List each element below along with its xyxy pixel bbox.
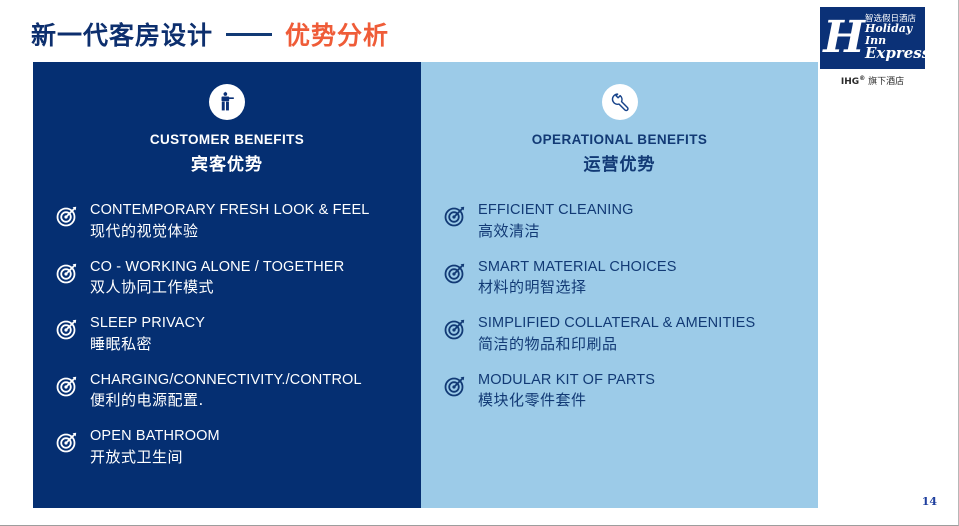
panel-heading-cn: 宾客优势 [191, 150, 263, 175]
list-item-cn: 简洁的物品和印刷品 [478, 337, 755, 352]
list-item-en: OPEN BATHROOM [90, 429, 220, 444]
list-item: OPEN BATHROOM 开放式卫生间 [55, 429, 421, 465]
target-bullet-icon [55, 261, 79, 285]
list-item: SIMPLIFIED COLLATERAL & AMENITIES 简洁的物品和… [443, 316, 818, 352]
list-item: CHARGING/CONNECTIVITY./CONTROL 便利的电源配置. [55, 373, 421, 409]
list-item: SLEEP PRIVACY 睡眠私密 [55, 316, 421, 352]
list-item-en: CONTEMPORARY FRESH LOOK & FEEL [90, 203, 370, 218]
list-item-en: CO - WORKING ALONE / TOGETHER [90, 260, 344, 275]
list-item: EFFICIENT CLEANING 高效清洁 [443, 203, 818, 239]
logo-brand-line1: Holiday Inn [865, 23, 930, 45]
list-item-text: EFFICIENT CLEANING 高效清洁 [478, 203, 634, 239]
target-bullet-icon [443, 317, 467, 341]
list-item-cn: 开放式卫生间 [90, 450, 220, 465]
list-item-en: SMART MATERIAL CHOICES [478, 260, 677, 275]
customer-benefits-header: CUSTOMER BENEFITS 宾客优势 [33, 84, 421, 175]
target-bullet-icon [55, 430, 79, 454]
list-item-cn: 模块化零件套件 [478, 393, 655, 408]
operational-benefits-header: OPERATIONAL BENEFITS 运营优势 [421, 84, 818, 175]
list-item-text: MODULAR KIT OF PARTS 模块化零件套件 [478, 373, 655, 409]
list-item: CONTEMPORARY FRESH LOOK & FEEL 现代的视觉体验 [55, 203, 421, 239]
list-item-text: SMART MATERIAL CHOICES 材料的明智选择 [478, 260, 677, 296]
panel-heading-en: OPERATIONAL BENEFITS [532, 132, 708, 147]
list-item-text: CHARGING/CONNECTIVITY./CONTROL 便利的电源配置. [90, 373, 362, 409]
target-bullet-icon [55, 374, 79, 398]
list-item: CO - WORKING ALONE / TOGETHER 双人协同工作模式 [55, 260, 421, 296]
brand-logo: H 智选假日酒店 Holiday Inn Express IHG® 旗下酒店 [811, 7, 934, 97]
logo-wordmark: 智选假日酒店 Holiday Inn Express [863, 15, 930, 61]
slide-canvas: 新一代客房设计 优势分析 H 智选假日酒店 Holiday Inn Expres… [0, 0, 959, 526]
title-divider-dash [226, 33, 272, 36]
page-title-accent: 优势分析 [285, 16, 389, 52]
h-monogram-icon: H [823, 12, 863, 64]
target-bullet-icon [55, 317, 79, 341]
list-item-text: SIMPLIFIED COLLATERAL & AMENITIES 简洁的物品和… [478, 316, 755, 352]
customer-benefits-list: CONTEMPORARY FRESH LOOK & FEEL 现代的视觉体验 C… [33, 203, 421, 465]
logo-brand-line2: Express [865, 46, 930, 61]
holiday-inn-express-logo-mark: H 智选假日酒店 Holiday Inn Express [820, 7, 925, 69]
panel-heading-cn: 运营优势 [584, 150, 656, 175]
operational-benefits-list: EFFICIENT CLEANING 高效清洁 SMART MATERIAL C… [421, 203, 818, 408]
list-item-text: OPEN BATHROOM 开放式卫生间 [90, 429, 220, 465]
target-bullet-icon [443, 374, 467, 398]
operational-benefits-panel: OPERATIONAL BENEFITS 运营优势 EFFICIENT CLEA… [421, 62, 818, 508]
parent-brand-line: IHG® 旗下酒店 [841, 74, 904, 87]
list-item-en: SIMPLIFIED COLLATERAL & AMENITIES [478, 316, 755, 331]
list-item-text: CO - WORKING ALONE / TOGETHER 双人协同工作模式 [90, 260, 344, 296]
list-item-cn: 便利的电源配置. [90, 393, 362, 408]
target-bullet-icon [443, 261, 467, 285]
list-item-cn: 睡眠私密 [90, 337, 205, 352]
list-item-en: EFFICIENT CLEANING [478, 203, 634, 218]
panel-heading-en: CUSTOMER BENEFITS [150, 132, 304, 147]
parent-brand-cn: 旗下酒店 [865, 77, 904, 87]
page-number: 14 [922, 495, 937, 508]
list-item-en: SLEEP PRIVACY [90, 316, 205, 331]
list-item-en: MODULAR KIT OF PARTS [478, 373, 655, 388]
list-item-cn: 高效清洁 [478, 224, 634, 239]
list-item-cn: 材料的明智选择 [478, 280, 677, 295]
list-item-en: CHARGING/CONNECTIVITY./CONTROL [90, 373, 362, 388]
wrench-icon [602, 84, 638, 120]
list-item-text: SLEEP PRIVACY 睡眠私密 [90, 316, 205, 352]
list-item: MODULAR KIT OF PARTS 模块化零件套件 [443, 373, 818, 409]
customer-benefits-panel: CUSTOMER BENEFITS 宾客优势 CONTEMPORARY FRES… [33, 62, 421, 508]
page-title-main: 新一代客房设计 [31, 16, 213, 52]
target-bullet-icon [443, 204, 467, 228]
concierge-person-icon [209, 84, 245, 120]
h-monogram-letter: H [823, 16, 863, 60]
list-item-cn: 现代的视觉体验 [90, 224, 370, 239]
list-item-text: CONTEMPORARY FRESH LOOK & FEEL 现代的视觉体验 [90, 203, 370, 239]
target-bullet-icon [55, 204, 79, 228]
list-item-cn: 双人协同工作模式 [90, 280, 344, 295]
parent-brand-name: IHG [841, 77, 859, 87]
page-title: 新一代客房设计 优势分析 [31, 16, 389, 52]
list-item: SMART MATERIAL CHOICES 材料的明智选择 [443, 260, 818, 296]
